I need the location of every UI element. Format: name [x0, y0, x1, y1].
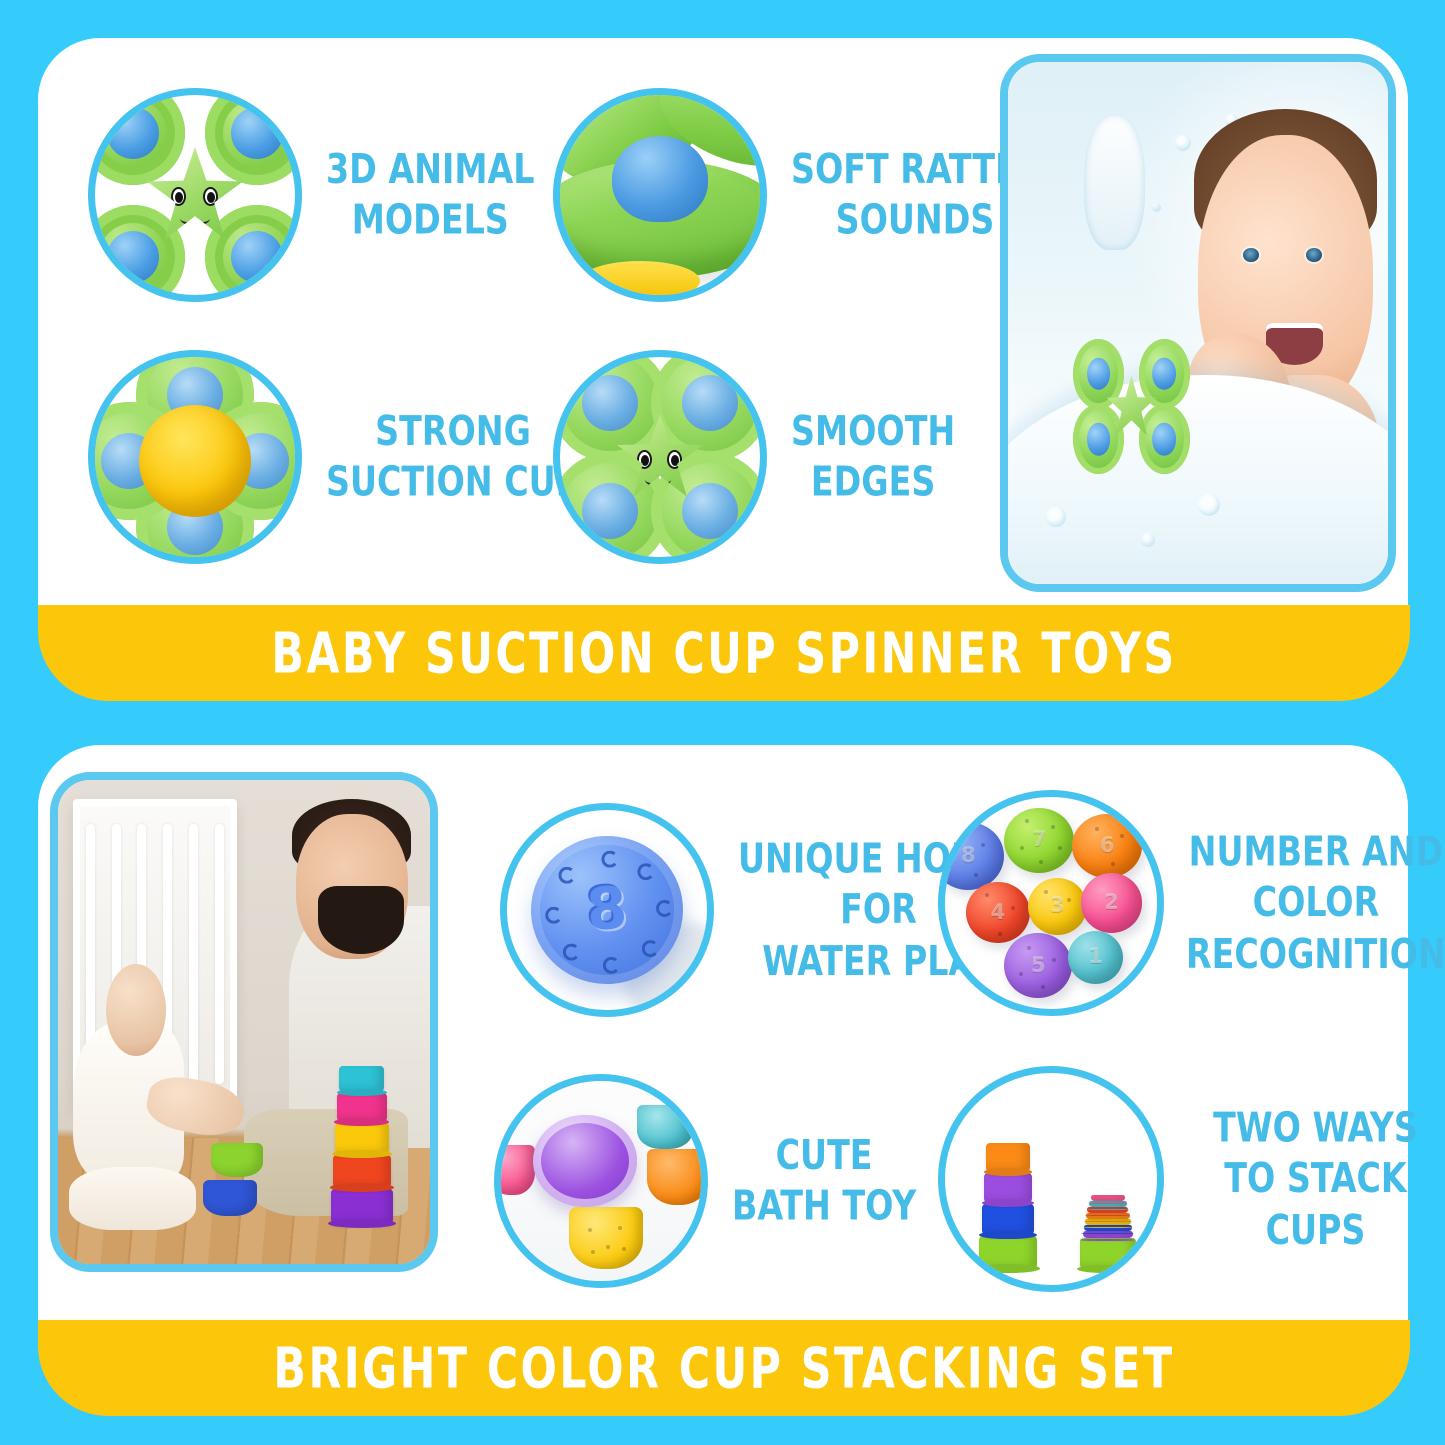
feature-label: CUTE BATH TOY: [732, 1130, 916, 1232]
bottom-banner: BRIGHT COLOR CUP STACKING SET: [38, 1320, 1410, 1416]
infographic-canvas: 3D ANIMAL MODELS SOFT RATTLE SOUNDS: [0, 0, 1445, 1445]
feature-label: 3D ANIMAL MODELS: [326, 144, 535, 246]
blue-cup-bottom-with-holes-icon: 8: [500, 803, 714, 1017]
feature-number-and-color-recognition: 8 7 6 4 3: [938, 790, 1445, 1016]
four-petal-star-spinner-icon: [553, 350, 767, 564]
two-cup-stacks-icon: [938, 1066, 1164, 1292]
cup-number: 8: [584, 873, 629, 944]
feature-cute-bath-toy: CUTE BATH TOY: [494, 1074, 916, 1288]
father-and-baby-playing-photo: [50, 772, 438, 1272]
feature-label: STRONG SUCTION CUP: [326, 406, 580, 508]
baby-in-bathtub-photo: [1000, 54, 1396, 592]
feature-strong-suction-cup: STRONG SUCTION CUP: [88, 350, 580, 564]
feature-label: TWO WAYS TO STACK CUPS: [1186, 1103, 1445, 1256]
feature-3d-animal-models: 3D ANIMAL MODELS: [88, 88, 535, 302]
top-banner-title: BABY SUCTION CUP SPINNER TOYS: [59, 598, 1390, 707]
star-spinner-suction-toy-icon: [88, 88, 302, 302]
top-banner: BABY SUCTION CUP SPINNER TOYS: [38, 605, 1410, 701]
feature-soft-rattle-sounds: SOFT RATTLE SOUNDS: [553, 88, 1039, 302]
suction-cup-yellow-center-spinner-icon: [88, 350, 302, 564]
feature-label: NUMBER AND COLOR RECOGNITION: [1186, 827, 1445, 980]
colored-numbered-cup-lids-icon: 8 7 6 4 3: [938, 790, 1164, 1016]
bottom-banner-title: BRIGHT COLOR CUP STACKING SET: [59, 1313, 1390, 1422]
open-colorful-cups-icon: [494, 1074, 708, 1288]
feature-two-ways-to-stack-cups: TWO WAYS TO STACK CUPS: [938, 1066, 1445, 1292]
feature-smooth-edges: SMOOTH EDGES: [553, 350, 955, 564]
rattle-spinner-side-view-icon: [553, 88, 767, 302]
feature-label: SMOOTH EDGES: [791, 406, 955, 508]
